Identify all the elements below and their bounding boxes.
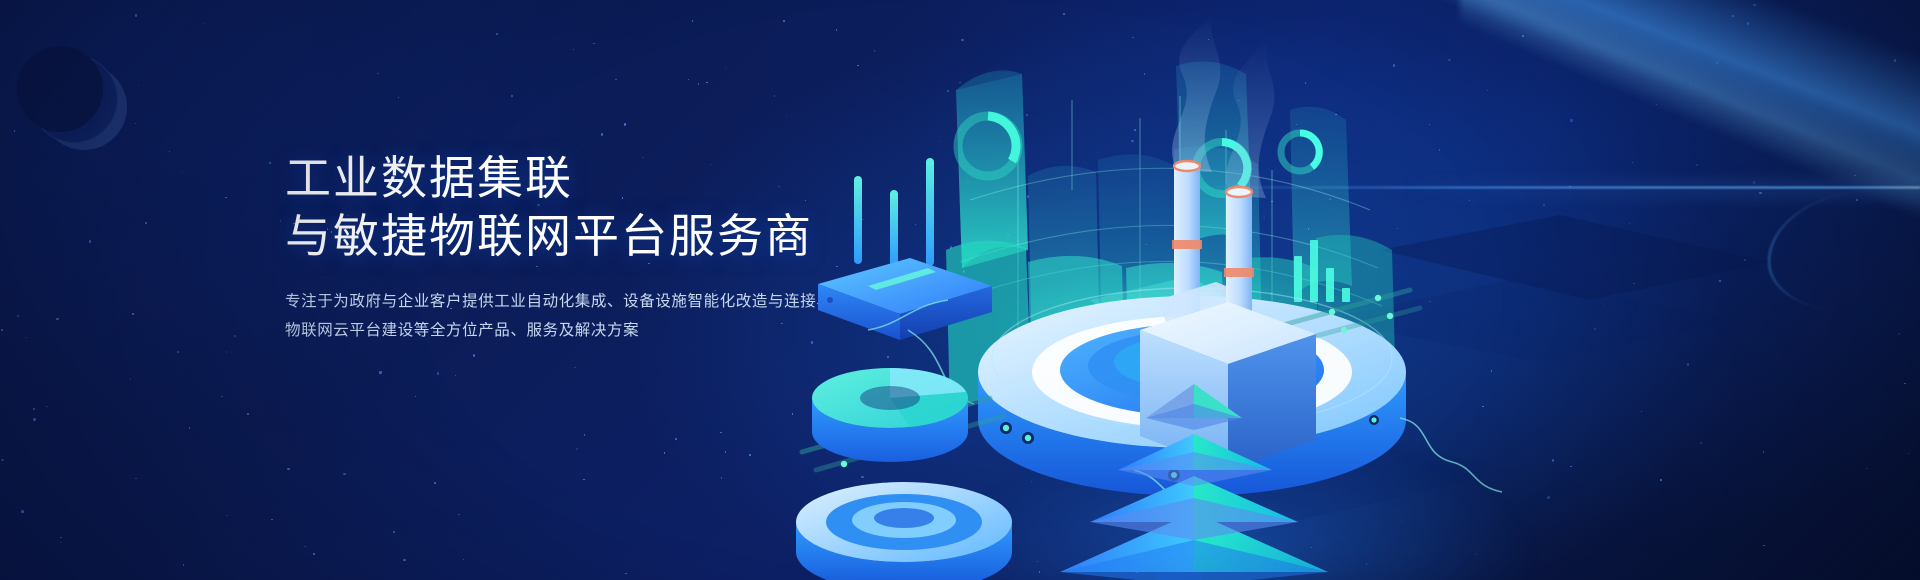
star xyxy=(415,396,417,398)
star xyxy=(624,123,627,126)
star xyxy=(698,83,700,85)
star xyxy=(89,240,92,243)
star xyxy=(135,123,137,125)
hero-banner: 工业数据集联 与敏捷物联网平台服务商 专注于为政府与企业客户提供工业自动化集成、… xyxy=(0,0,1920,580)
hero-illustration xyxy=(760,0,1920,580)
star xyxy=(56,318,59,321)
star xyxy=(226,515,228,517)
star xyxy=(145,222,147,224)
star xyxy=(60,537,62,539)
star xyxy=(226,351,228,353)
star xyxy=(463,559,465,561)
star xyxy=(725,451,727,453)
star xyxy=(455,375,457,377)
star xyxy=(33,418,36,421)
star xyxy=(280,220,282,222)
star xyxy=(688,79,690,81)
star xyxy=(17,315,19,317)
star xyxy=(601,133,604,136)
star xyxy=(135,478,137,480)
star xyxy=(182,171,184,173)
star xyxy=(1,329,3,331)
star xyxy=(21,510,24,513)
star xyxy=(313,553,315,555)
star xyxy=(664,452,666,454)
star xyxy=(221,396,223,398)
ring-platform xyxy=(796,482,1012,580)
router-antennas xyxy=(854,158,934,266)
star xyxy=(720,432,722,434)
router-indicator xyxy=(827,297,833,303)
star xyxy=(204,23,206,25)
star xyxy=(343,473,346,476)
pie-chart-cylinder xyxy=(812,368,968,462)
star xyxy=(692,20,694,22)
crescent-moon-icon xyxy=(30,55,118,143)
star xyxy=(247,413,249,415)
star xyxy=(1,459,4,462)
star xyxy=(138,85,140,87)
star xyxy=(721,477,723,479)
star xyxy=(574,367,576,369)
star xyxy=(33,408,35,410)
star xyxy=(46,406,48,408)
star xyxy=(625,573,627,575)
headline-line-1: 工业数据集联 xyxy=(285,152,573,204)
star xyxy=(576,448,579,451)
star xyxy=(511,95,513,97)
star xyxy=(189,427,191,429)
star xyxy=(177,351,180,354)
star xyxy=(458,514,460,516)
star xyxy=(25,337,27,339)
star xyxy=(304,546,306,548)
star xyxy=(473,354,476,357)
star xyxy=(132,313,134,315)
star xyxy=(615,79,617,81)
star xyxy=(225,197,227,199)
star xyxy=(573,49,575,51)
star xyxy=(287,468,290,471)
star xyxy=(271,519,273,521)
star xyxy=(706,82,708,84)
star xyxy=(593,43,595,45)
star xyxy=(379,371,382,374)
star xyxy=(377,73,379,75)
star xyxy=(749,454,751,456)
star xyxy=(583,479,585,481)
star xyxy=(675,438,677,440)
star xyxy=(437,372,440,375)
star xyxy=(393,531,396,534)
star xyxy=(183,564,185,566)
star xyxy=(434,482,436,484)
star xyxy=(398,97,400,99)
star xyxy=(403,559,406,562)
star xyxy=(584,434,586,436)
star xyxy=(135,14,138,17)
star xyxy=(169,151,171,153)
star xyxy=(130,378,132,380)
star xyxy=(269,162,271,164)
star xyxy=(413,9,415,11)
star xyxy=(60,542,62,544)
star xyxy=(14,130,16,132)
star xyxy=(725,67,727,69)
star xyxy=(234,335,236,337)
star xyxy=(496,33,498,35)
star xyxy=(234,548,236,550)
